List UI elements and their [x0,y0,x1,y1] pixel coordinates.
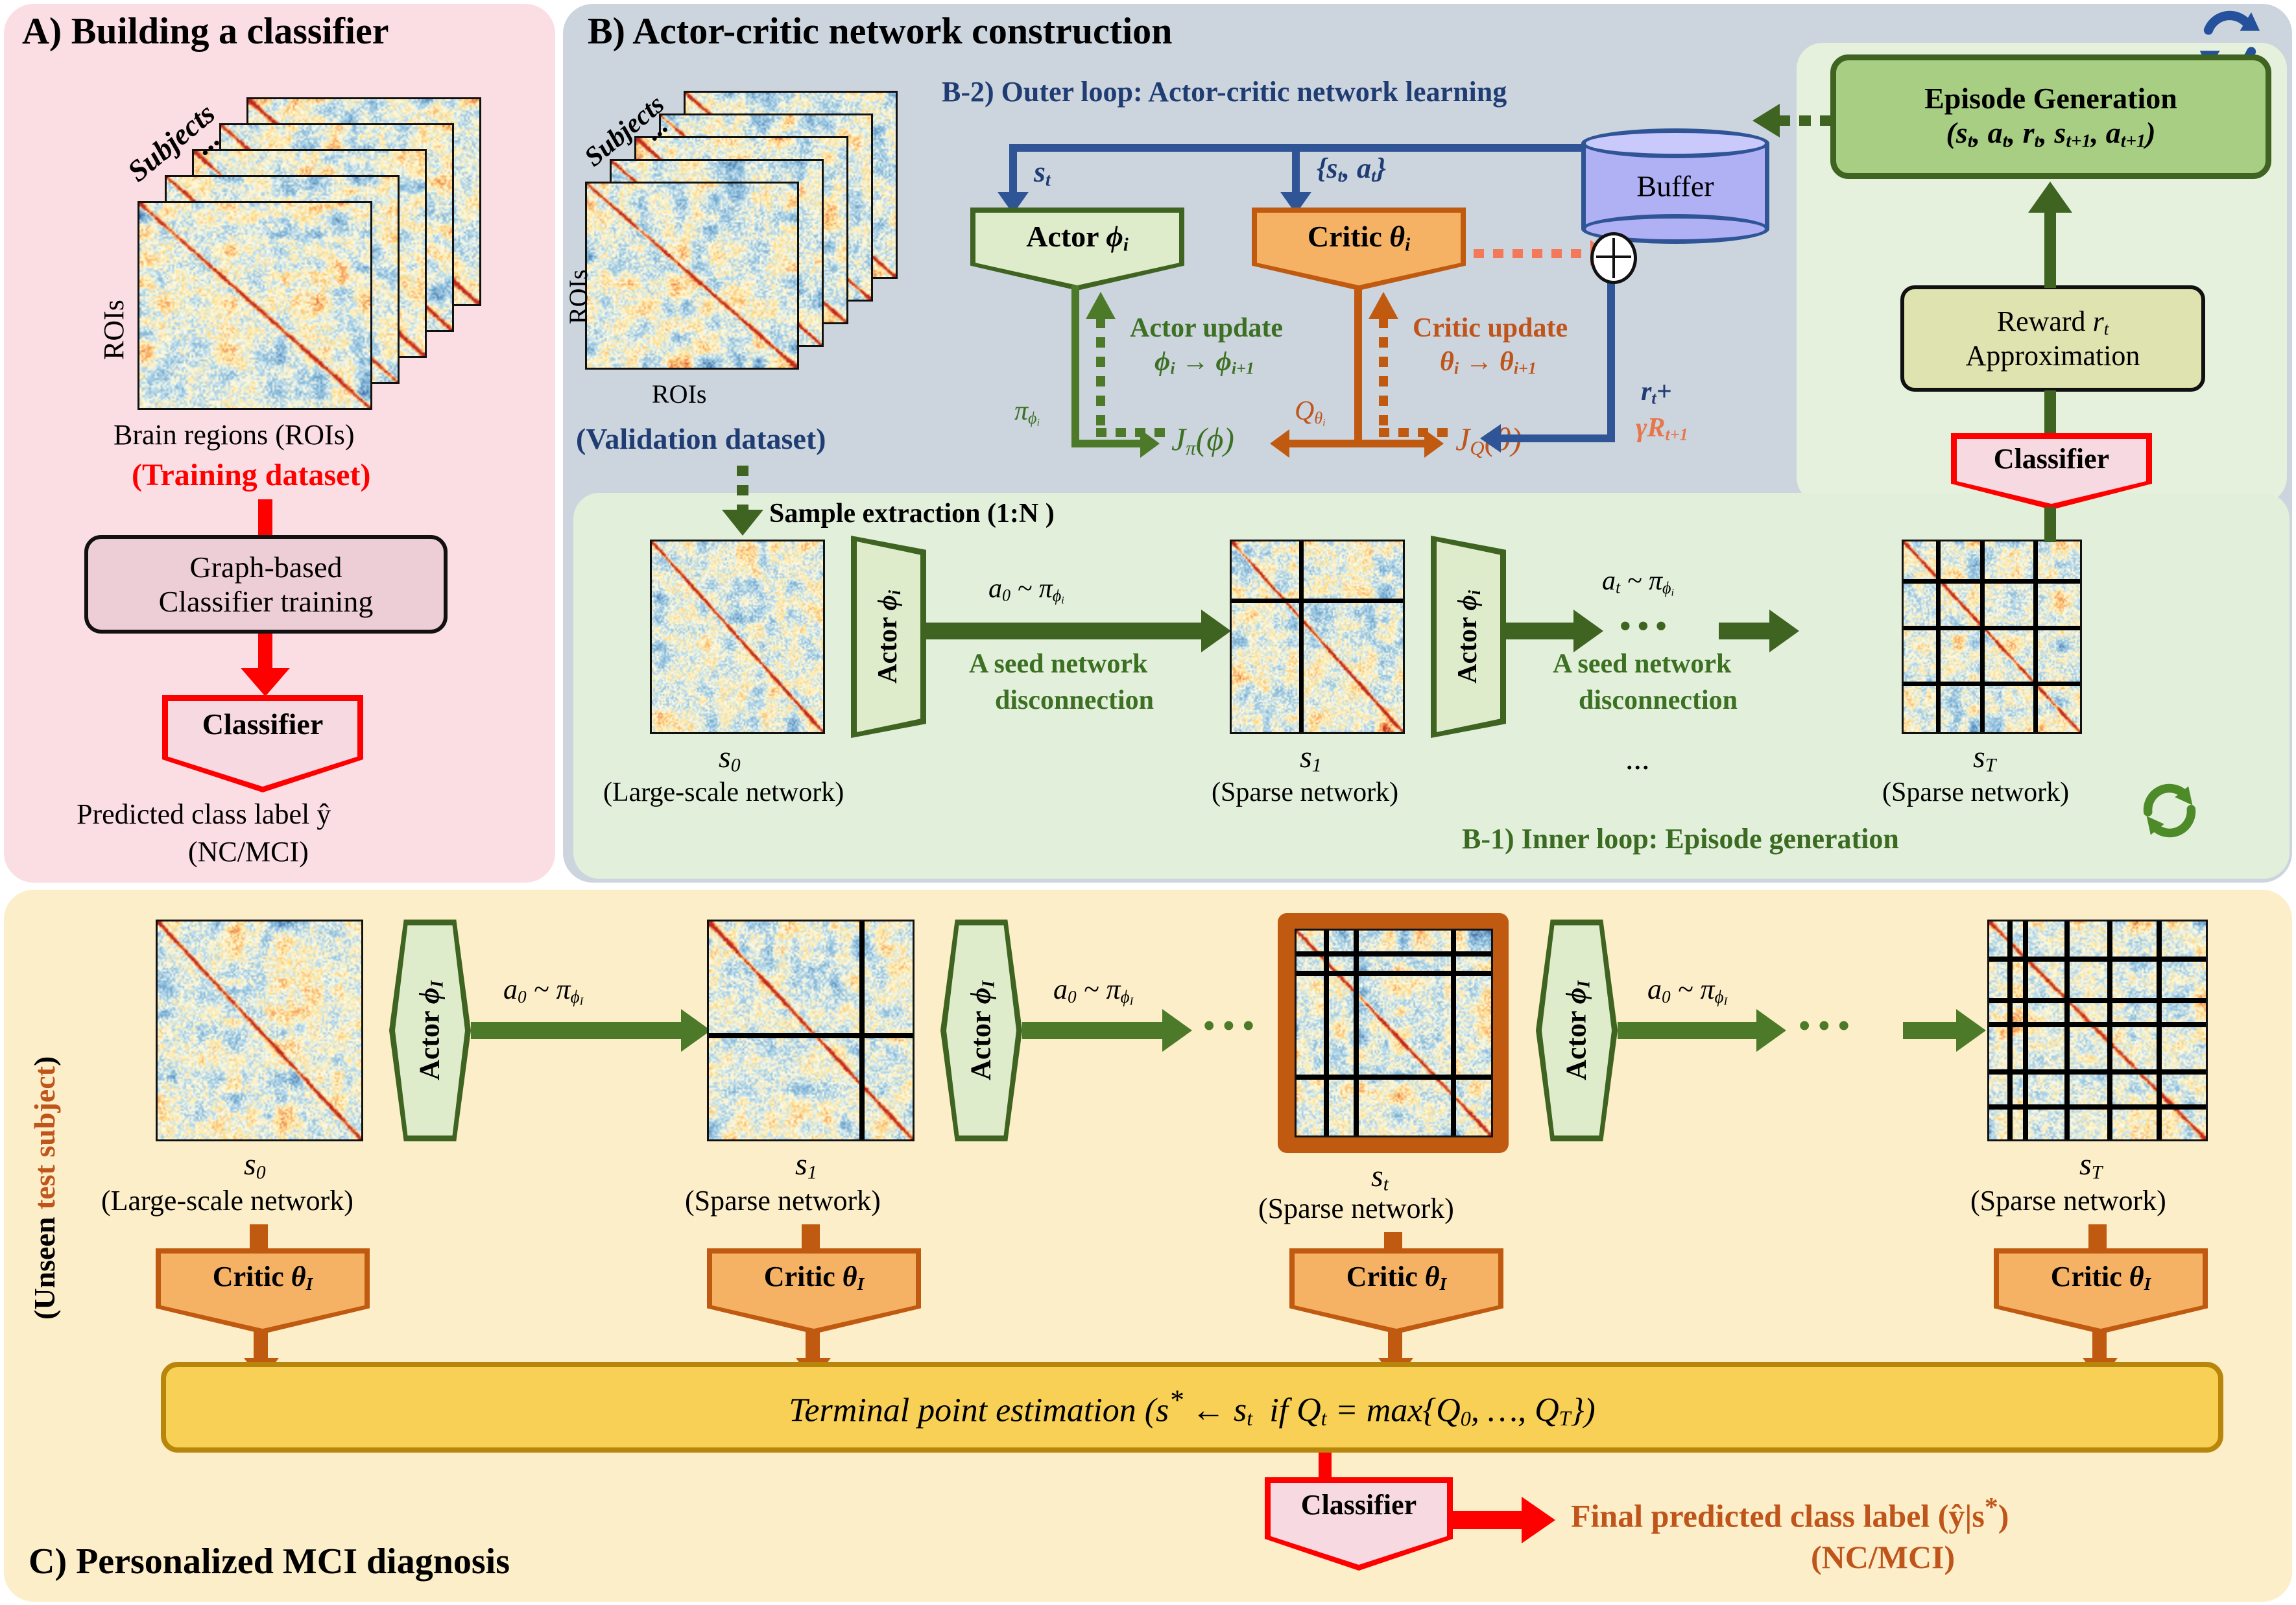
training-box-line2: Classifier training [159,584,374,619]
pi-phi-label: πϕi [1014,396,1040,429]
rois-axis-label-b: ROIs [563,270,593,324]
c-edge-2-shaft [1022,1022,1166,1039]
c-sT-cut-v4 [2107,921,2112,1141]
c-sT-cut-h2 [1989,998,2208,1003]
b1-actor-2-label: Actor ϕi [1452,590,1485,684]
b1-sT-cut-h2 [1904,626,2082,630]
critic-update-arrow-head [1369,292,1398,319]
b1-sT-cut-v3 [2033,541,2038,734]
b1-sT-cut-v1 [1936,541,1941,734]
c-state-matrix-st [1295,929,1493,1137]
c-state-label-sT: sT [2079,1147,2102,1184]
c-actor-2[interactable]: Actor ϕI [940,920,1022,1141]
unseen-test-subject-label: (Unseen test subject) [27,1056,62,1320]
b1-edge-2a-shaft [1506,623,1577,639]
b1-state-label-s0: s0 [719,739,741,777]
critic-to-plus-dotted [1474,249,1592,258]
actor-update-dashed-line [1096,318,1105,434]
c-sT-cut-v3 [2064,921,2070,1141]
buffer-feed-branch-critic [1292,144,1300,195]
q-theta-label: Qθi [1295,396,1326,429]
b1-edge-2b-arrow [1769,610,1799,652]
buffer-to-jq-arrow [1480,424,1501,453]
b1-state-matrix-s1 [1230,540,1405,734]
c-sublabel-sT: (Sparse network) [1970,1184,2166,1217]
c-sublabel-st: (Sparse network) [1258,1192,1454,1225]
b1-actor-2[interactable]: Actor ϕi [1431,536,1506,738]
c-edge-1-shaft [471,1022,685,1039]
matrix-stack-b-1 [585,182,799,370]
actor-output-line [1071,285,1079,447]
c-state-matrix-s0 [156,920,363,1141]
b1-sT-cut-v2 [1980,541,1985,734]
b1-edge-1-shaft [926,623,1205,639]
b1-edge-text-1-line2: disconnection [995,685,1154,716]
buffer-feed-branch-actor [1009,144,1017,195]
c-ellipsis-dots-2: ••• [1798,1004,1857,1047]
c-edge-4-shaft [1903,1022,1960,1039]
c-s1-cut-v [859,921,865,1141]
actor-update-dashed-line-h [1096,428,1167,437]
actor-update-arrow-head [1086,292,1116,319]
b1-ellipsis-bottom: ... [1625,739,1650,777]
c-s1-cut-h [709,1033,915,1038]
b1-action-label-2: at ~ πϕi [1602,565,1674,599]
b1-edge-2b-shaft [1719,623,1773,639]
predicted-label-a-line2: (NC/MCI) [188,835,309,868]
c-final-label-line2: (NC/MCI) [1811,1538,1955,1576]
panel-b1-title: B-1) Inner loop: Episode generation [1462,822,1899,855]
graph-classifier-training-box: Graph-based Classifier training [84,535,448,634]
arrow-a-1-shaft [258,499,272,537]
reward-line1: Reward rt [1997,305,2109,339]
c-edge-4-arrow [1956,1009,1986,1052]
b1-sT-cut-h1 [1904,579,2082,584]
c-critic-out-1-shaft [254,1329,268,1361]
c-sublabel-s1: (Sparse network) [685,1184,881,1217]
critic-update-dashed-line-h [1379,428,1450,437]
b1-edge-text-2-line2: disconnection [1579,685,1738,716]
c-actor-2-label: Actor ϕI [964,981,999,1080]
arrow-a-2-shaft [258,634,272,671]
matrix-stack-a-1 [138,201,372,410]
panel-a-title: A) Building a classifier [22,9,389,53]
classifier-label-a: Classifier [162,707,363,741]
sample-extraction-arrow-head [722,510,763,536]
state-label-st: st [1034,154,1051,191]
critic-output-to-jq [1354,440,1427,447]
c-critic-box-2-label: Critic θI [707,1260,921,1294]
c-edge-3-shaft [1618,1022,1760,1039]
c-final-arrow-head [1522,1497,1555,1543]
c-final-classifier-label: Classifier [1265,1488,1453,1521]
c-sT-cut-v2 [2023,921,2028,1141]
rois-x-label-b: ROIs [652,379,706,409]
episode-gen-line1: Episode Generation [1924,81,2177,115]
b1-sublabel-sT: (Sparse network) [1882,777,2069,808]
b1-edge-text-1-line1: A seed network [969,648,1147,680]
b1-action-label-1: a0 ~ πϕi [988,573,1064,606]
c-sublabel-s0: (Large-scale network) [101,1184,353,1217]
c-ellipsis-dots-1: ••• [1202,1004,1262,1047]
b1-state-label-s1: s1 [1300,739,1322,777]
panel-b-title: B) Actor-critic network construction [588,9,1172,53]
state-action-label: {st, at} [1317,152,1386,186]
c-sT-cut-h4 [1989,1069,2208,1075]
critic-update-line2: θi → θi+1 [1440,346,1537,379]
b1-actor-1-label: Actor ϕi [872,590,905,684]
plus-circle-icon [1590,232,1637,284]
c-actor-1-label: Actor ϕI [413,981,448,1080]
critic-box-label: Critic θi [1252,219,1466,256]
reward-approximation-box: Reward rt Approximation [1900,285,2205,392]
terminal-point-estimation-box: Terminal point estimation (s* ← st if Qt… [161,1362,2223,1453]
c-action-label-3: a0 ~ πϕI [1647,973,1727,1008]
training-box-line1: Graph-based [189,550,342,584]
training-dataset-label: (Training dataset) [132,457,370,493]
terminal-point-estimation-text: Terminal point estimation (s* ← st if Qt… [789,1384,1595,1431]
b1-s1-cut-h [1232,599,1405,603]
refresh-loop-icon-green [2134,777,2205,844]
reward-sum-line1: rt+ [1641,376,1672,409]
b1-state-label-sT: sT [1973,739,1996,777]
validation-dataset-label: (Validation dataset) [576,422,826,456]
arrow-a-2-head [241,668,290,696]
b1-edge-text-2-line1: A seed network [1553,648,1731,680]
c-critic-out-2-shaft [806,1329,820,1361]
c-final-arrow-shaft [1453,1511,1525,1529]
c-sT-cut-h5 [1989,1104,2208,1110]
c-edge-2-arrow [1162,1009,1192,1052]
b1-state-matrix-sT [1902,540,2082,734]
c-critic-box-1-label: Critic θI [156,1260,370,1294]
predicted-label-a-line1: Predicted class label ŷ [77,798,331,831]
b1-edge-1-arrow [1201,610,1231,652]
c-sT-cut-v1 [2007,921,2013,1141]
buffer-to-jq-line [1496,434,1614,442]
reward-sum-line2: γRt+1 [1636,412,1688,445]
b1-edge-2a-arrow [1573,610,1603,652]
c-state-label-s0: s0 [244,1147,266,1184]
c-sT-cut-h1 [1989,957,2208,962]
jpi-jq-link-line [1287,440,1356,447]
actor-update-line2: ϕi → ϕi+1 [1154,346,1254,379]
j-pi-label: Jπ(ϕ) [1171,420,1234,460]
c-critic-box-4-label: Critic θI [1994,1260,2208,1294]
b1-sT-to-classifier-line [2044,507,2056,542]
c-critic-out-4-shaft [2092,1329,2107,1361]
actor-update-line1: Actor update [1130,313,1283,344]
classifier-to-reward-line [2044,390,2056,437]
actor-box-label: Actor ϕi [970,219,1184,256]
episode-gen-line2: (st, at, rt, st+1, at+1) [1946,115,2155,152]
sample-extraction-dashed-line [737,466,748,511]
buffer-cylinder[interactable]: Buffer [1581,128,1769,244]
brain-regions-label-a: Brain regions (ROIs) [114,418,355,451]
b1-state-matrix-s0 [650,540,825,734]
c-state-label-st: st [1371,1158,1389,1196]
b1-ellipsis-dots: ••• [1619,606,1673,647]
c-actor-3[interactable]: Actor ϕI [1536,920,1618,1141]
c-st-cut-v3 [1451,931,1456,1137]
actor-output-to-jpi [1071,440,1143,447]
c-final-label-line1: Final predicted class label (ŷ|s*) [1571,1492,2009,1535]
c-critic-out-3-shaft [1388,1329,1402,1361]
c-state-label-s1: s1 [795,1147,817,1184]
panel-b2-title: B-2) Outer loop: Actor-critic network le… [942,75,1507,108]
c-actor-1[interactable]: Actor ϕI [389,920,471,1141]
c-st-cut-v2 [1354,931,1359,1137]
critic-update-dashed-line [1379,318,1388,434]
reward-to-episode-arrow [2028,182,2072,213]
c-actor-3-label: Actor ϕI [1560,981,1594,1080]
c-sT-cut-h3 [1989,1022,2208,1027]
b1-sublabel-s0: (Large-scale network) [603,777,844,808]
buffer-label: Buffer [1581,169,1769,204]
episode-generation-box: Episode Generation (st, at, rt, st+1, at… [1830,54,2271,179]
c-st-cut-v1 [1324,931,1329,1137]
c-final-classifier-line [1319,1453,1332,1480]
sample-extraction-label: Sample extraction (1:N ) [769,498,1055,529]
b1-s1-cut-v [1299,541,1304,734]
c-state-matrix-s1 [707,920,915,1141]
reward-to-episode-line [2044,211,2056,288]
c-sT-cut-v5 [2157,921,2162,1141]
c-action-label-2: a0 ~ πϕI [1053,973,1133,1008]
b1-actor-1[interactable]: Actor ϕi [851,536,926,738]
b1-sT-cut-h3 [1904,682,2082,686]
classifier-label-b: Classifier [1951,442,2152,475]
c-state-matrix-sT [1987,920,2208,1141]
b1-sublabel-s1: (Sparse network) [1212,777,1398,808]
c-edge-3-arrow [1756,1009,1786,1052]
critic-update-line1: Critic update [1413,313,1568,344]
panel-c-title: C) Personalized MCI diagnosis [29,1541,510,1582]
episode-to-buffer-arrow [1752,104,1780,137]
critic-output-line [1354,285,1362,447]
reward-line2: Approximation [1966,339,2140,372]
c-critic-box-3-label: Critic θI [1289,1260,1503,1294]
episode-to-buffer-dashed [1778,115,1833,126]
c-action-label-1: a0 ~ πϕI [503,973,583,1008]
rois-axis-label-a: ROIs [97,300,130,360]
